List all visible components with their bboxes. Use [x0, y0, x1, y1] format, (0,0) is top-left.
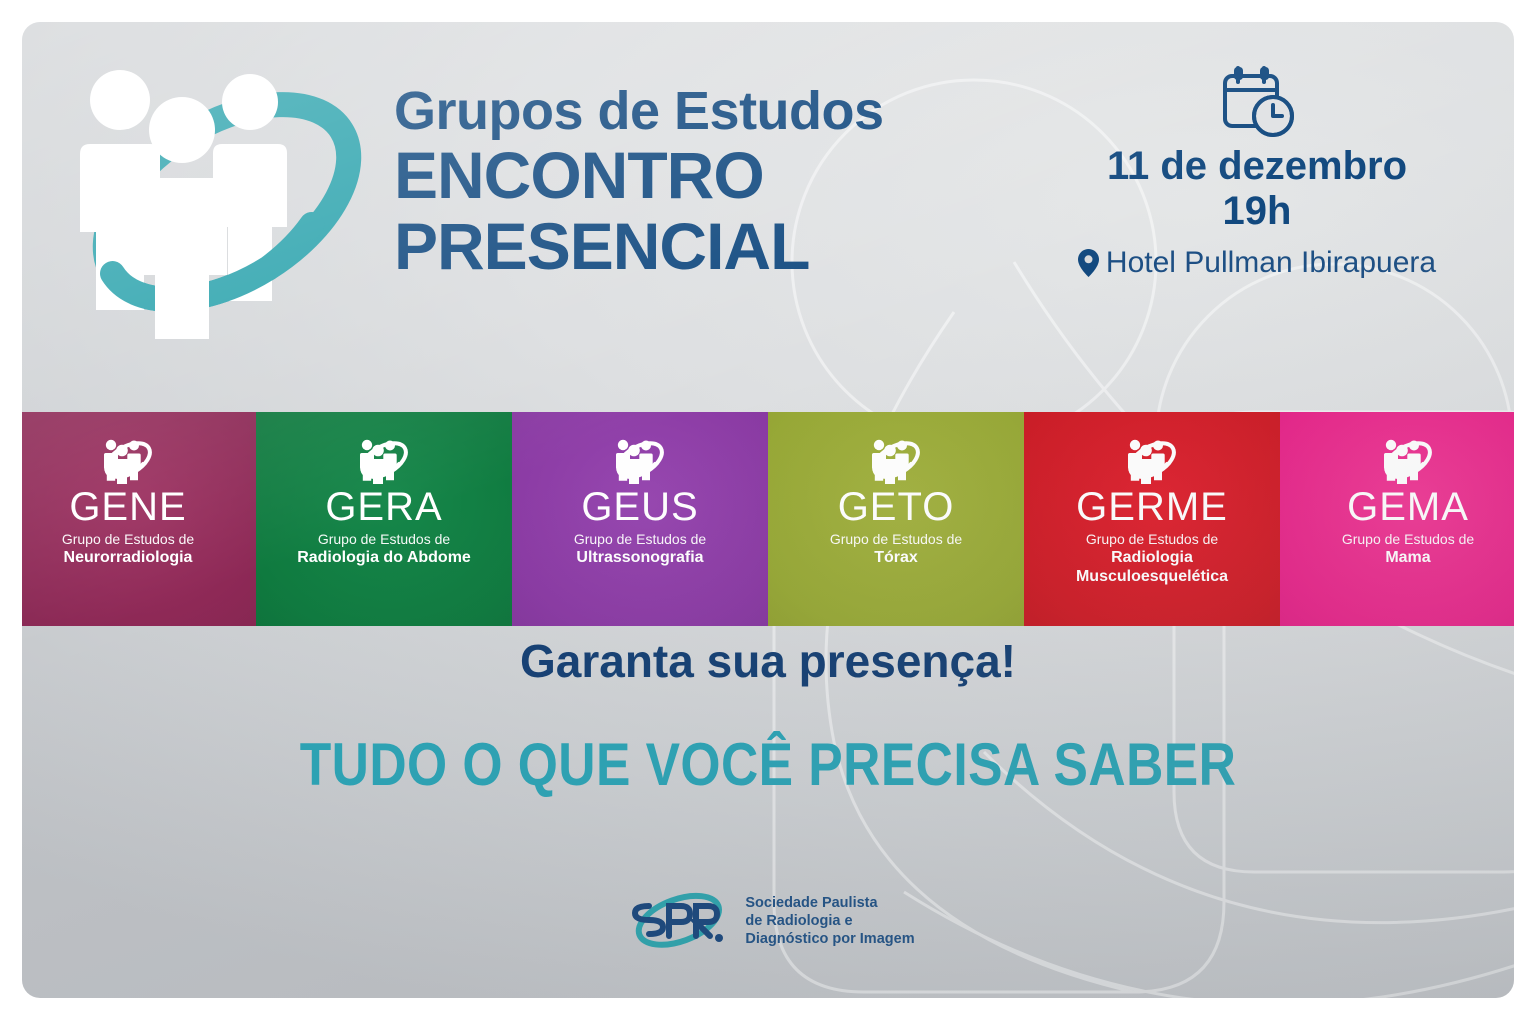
group-subtitle-main: Tórax: [874, 548, 918, 567]
group-tile-germe[interactable]: GERME Grupo de Estudos de Radiologia Mus…: [1024, 412, 1280, 626]
group-tile-geto[interactable]: GETO Grupo de Estudos de Tórax: [768, 412, 1024, 626]
event-date: 11 de dezembro: [1042, 144, 1472, 189]
banner-header: Grupos de Estudos ENCONTRO PRESENCIAL: [22, 22, 1514, 412]
group-subtitle-top: Grupo de Estudos de: [574, 531, 706, 548]
three-people-swoosh-icon: [612, 436, 668, 484]
group-acronym: GEUS: [581, 486, 698, 528]
three-people-swoosh-icon: [868, 436, 924, 484]
event-title-block: Grupos de Estudos ENCONTRO PRESENCIAL: [394, 84, 884, 281]
group-subtitle-main: Ultrassonografia: [576, 548, 703, 567]
group-subtitle-main: Radiologia do Abdome: [297, 548, 471, 567]
spr-name-line2: de Radiologia e: [745, 912, 914, 930]
group-subtitle-main: Radiologia Musculoesquelética: [1076, 548, 1228, 586]
spr-swoosh-logo-icon: [621, 890, 733, 952]
three-people-swoosh-icon: [1380, 436, 1436, 484]
group-acronym: GEMA: [1347, 486, 1469, 528]
event-title-line1: ENCONTRO: [394, 140, 884, 211]
three-people-swoosh-icon: [100, 436, 156, 484]
spr-brand-logo: Sociedade Paulista de Radiologia e Diagn…: [22, 890, 1514, 952]
group-acronym: GERME: [1076, 486, 1228, 528]
spr-name-line1: Sociedade Paulista: [745, 894, 914, 912]
map-pin-icon: [1078, 249, 1099, 277]
three-people-swoosh-icon: [1124, 436, 1180, 484]
group-tile-geus[interactable]: GEUS Grupo de Estudos de Ultrassonografi…: [512, 412, 768, 626]
banner-panel: Grupos de Estudos ENCONTRO PRESENCIAL: [22, 22, 1514, 998]
calendar-clock-icon: [1219, 62, 1295, 140]
banner-canvas: Grupos de Estudos ENCONTRO PRESENCIAL: [0, 0, 1536, 1024]
group-subtitle-top: Grupo de Estudos de: [830, 531, 962, 548]
event-title-line2: PRESENCIAL: [394, 211, 884, 282]
group-tile-gene[interactable]: GENE Grupo de Estudos de Neurorradiologi…: [22, 412, 256, 626]
group-subtitle-top: Grupo de Estudos de: [1342, 531, 1474, 548]
group-subtitle-top: Grupo de Estudos de: [62, 531, 194, 548]
group-subtitle-top: Grupo de Estudos de: [318, 531, 450, 548]
event-datetime-block: 11 de dezembro 19h Hotel Pullman Ibirapu…: [1042, 62, 1472, 280]
study-groups-band: GENE Grupo de Estudos de Neurorradiologi…: [22, 412, 1514, 626]
event-venue: Hotel Pullman Ibirapuera: [1042, 246, 1472, 280]
group-subtitle-main: Mama: [1385, 548, 1430, 567]
group-subtitle-top: Grupo de Estudos de: [1086, 531, 1218, 548]
cta-block: Garanta sua presença! TUDO O QUE VOCÊ PR…: [22, 636, 1514, 796]
cta-primary-text: Garanta sua presença!: [22, 636, 1514, 687]
spr-brand-name: Sociedade Paulista de Radiologia e Diagn…: [745, 894, 914, 949]
group-acronym: GERA: [325, 486, 442, 528]
group-tile-gema[interactable]: GEMA Grupo de Estudos de Mama: [1280, 412, 1514, 626]
spr-name-line3: Diagnóstico por Imagem: [745, 930, 914, 948]
event-venue-label: Hotel Pullman Ibirapuera: [1106, 246, 1436, 280]
group-acronym: GENE: [69, 486, 186, 528]
event-time: 19h: [1042, 189, 1472, 234]
cta-secondary-text: TUDO O QUE VOCÊ PRECISA SABER: [126, 733, 1409, 796]
event-eyebrow: Grupos de Estudos: [394, 84, 884, 138]
group-subtitle-main: Neurorradiologia: [64, 548, 193, 567]
three-people-swoosh-logo-icon: [72, 52, 382, 342]
group-acronym: GETO: [838, 486, 955, 528]
three-people-swoosh-icon: [356, 436, 412, 484]
group-tile-gera[interactable]: GERA Grupo de Estudos de Radiologia do A…: [256, 412, 512, 626]
